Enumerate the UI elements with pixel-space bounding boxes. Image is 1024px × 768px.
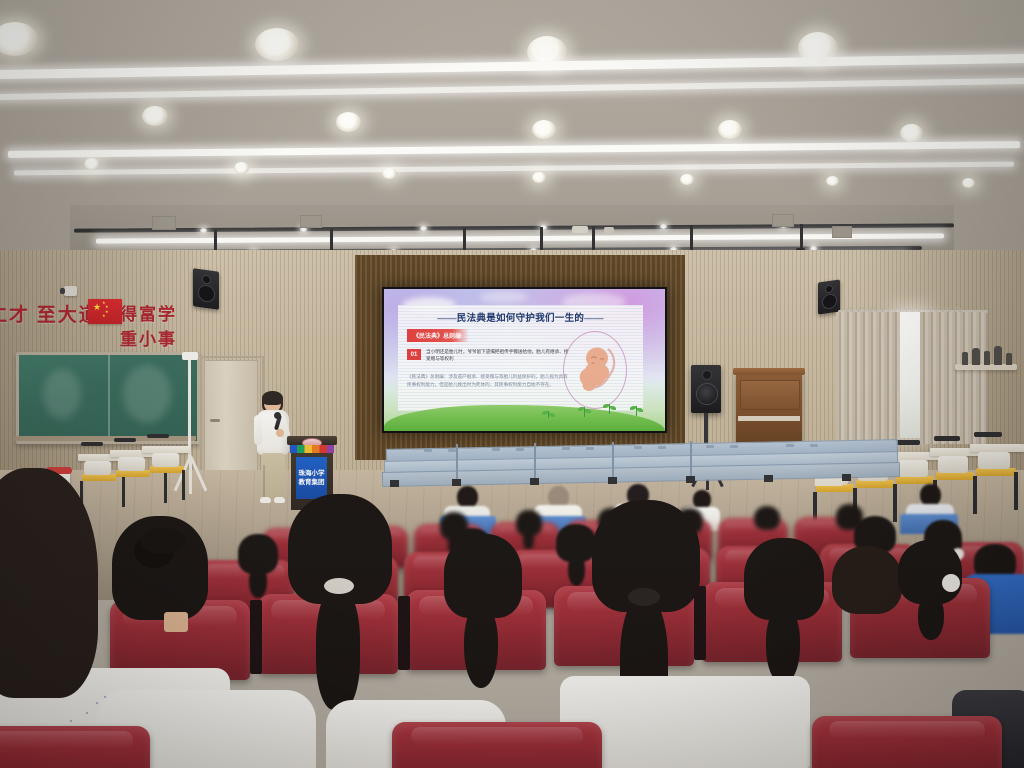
stage-light [660, 224, 667, 229]
downlight [382, 168, 397, 179]
light-hanger [800, 224, 803, 250]
slogan-right: 得富学 重小事 [120, 300, 192, 350]
audience-seat[interactable] [812, 716, 1002, 768]
ceiling-sensor [604, 227, 614, 233]
downlight [532, 120, 556, 139]
presenter-shoe [260, 497, 271, 503]
chalk-smudge [123, 365, 171, 423]
chalkboard-divider [108, 355, 110, 441]
projection-screen[interactable]: ——民法典是如何守护我们一生的—— 《民法典》总则编: 01 当小明还是胎儿时，… [382, 287, 667, 433]
slide-content-card: ——民法典是如何守护我们一生的—— 《民法典》总则编: 01 当小明还是胎儿时，… [398, 305, 643, 411]
presenter-arm-left [254, 415, 262, 445]
wall-speaker-right [818, 279, 840, 314]
auditorium-photo: ——民法典是如何守护我们一生的—— 《民法典》总则编: 01 当小明还是胎儿时，… [0, 0, 1024, 768]
trophy [962, 352, 968, 365]
riser-seam [456, 444, 458, 480]
ceiling-vent [832, 226, 852, 238]
sprout-icon [636, 406, 637, 416]
china-flag-icon: ★ ★ ★ ★ ★ [88, 299, 122, 324]
chalkboard [16, 352, 200, 444]
piano-front-panel [740, 380, 800, 410]
downlight [336, 112, 361, 132]
trophy [994, 346, 1002, 365]
slide-title: ——民法典是如何守护我们一生的—— [398, 310, 643, 324]
seat-gap [250, 600, 262, 674]
podium-sign-text: 珠海小学 教育集团 [296, 469, 327, 487]
trophy [972, 348, 980, 365]
presenter-hand [276, 429, 284, 437]
curtain-left-panel[interactable] [836, 312, 900, 444]
fetus-illustration [575, 341, 619, 397]
trophy [1006, 353, 1012, 365]
seat-gap [694, 586, 706, 660]
downlight [962, 178, 975, 188]
downlight [718, 120, 742, 139]
presenter-shoe [274, 497, 285, 503]
presenter-speaker [252, 393, 294, 505]
riser-seam [534, 443, 536, 479]
ceiling-vent [772, 214, 794, 227]
downlight [680, 174, 694, 185]
stage-light [200, 228, 207, 233]
slide-item-number: 01 [407, 349, 421, 360]
stacked-desks-left [78, 444, 208, 514]
podium-sign: 珠海小学 教育集团 [296, 457, 327, 499]
light-hanger [214, 230, 217, 252]
ceiling-vent [152, 216, 176, 230]
downlight [532, 172, 546, 183]
security-camera-icon [64, 286, 77, 296]
curtain-right-panel[interactable] [920, 312, 986, 444]
riser-seam [690, 441, 692, 477]
slide-note-text: 《民法典》总则编：涉及遗产继承、接受赠与等胎儿利益保护的，胎儿视为具有民事权利能… [407, 373, 572, 388]
slide-subhead-banner: 《民法典》总则编: [407, 329, 469, 342]
ceiling-vent [300, 215, 322, 228]
sprout-icon [548, 411, 549, 418]
audience-seat[interactable] [0, 726, 150, 768]
microphone-head [274, 412, 281, 419]
presenter-hair [262, 391, 283, 405]
sprout-icon [609, 404, 610, 414]
door-handle-icon[interactable] [210, 419, 220, 422]
audience-seat[interactable] [392, 722, 602, 768]
piano-keyboard [738, 416, 800, 421]
stage-light [420, 226, 427, 231]
riser-seam [612, 442, 614, 478]
upright-piano [736, 372, 802, 444]
slide-item-text: 当小明还是胎儿时，爷爷留下遗嘱把祖传手镯送给他，胎儿有继承、接受赠与等权利 [426, 348, 571, 362]
downlight [826, 176, 839, 186]
downlight [84, 158, 100, 170]
slogan-left: 仁才 至大道 [0, 300, 100, 327]
downlight [142, 106, 168, 126]
downlight [900, 124, 923, 142]
ceiling-projector [572, 226, 588, 233]
wall-speaker-left [193, 268, 219, 310]
trophy [984, 351, 990, 365]
seat-gap [398, 596, 410, 670]
tripod-head [182, 352, 198, 360]
sprout-icon [584, 407, 585, 417]
downlight [255, 28, 299, 61]
chalk-smudge [43, 369, 81, 419]
podium-rainbow-strip [290, 445, 334, 453]
downlight [234, 162, 249, 174]
piano-lid [733, 368, 805, 375]
cloud-shape [480, 291, 528, 303]
presentation-slide: ——民法典是如何守护我们一生的—— 《民法典》总则编: 01 当小明还是胎儿时，… [384, 289, 665, 431]
pa-speaker [691, 365, 721, 413]
